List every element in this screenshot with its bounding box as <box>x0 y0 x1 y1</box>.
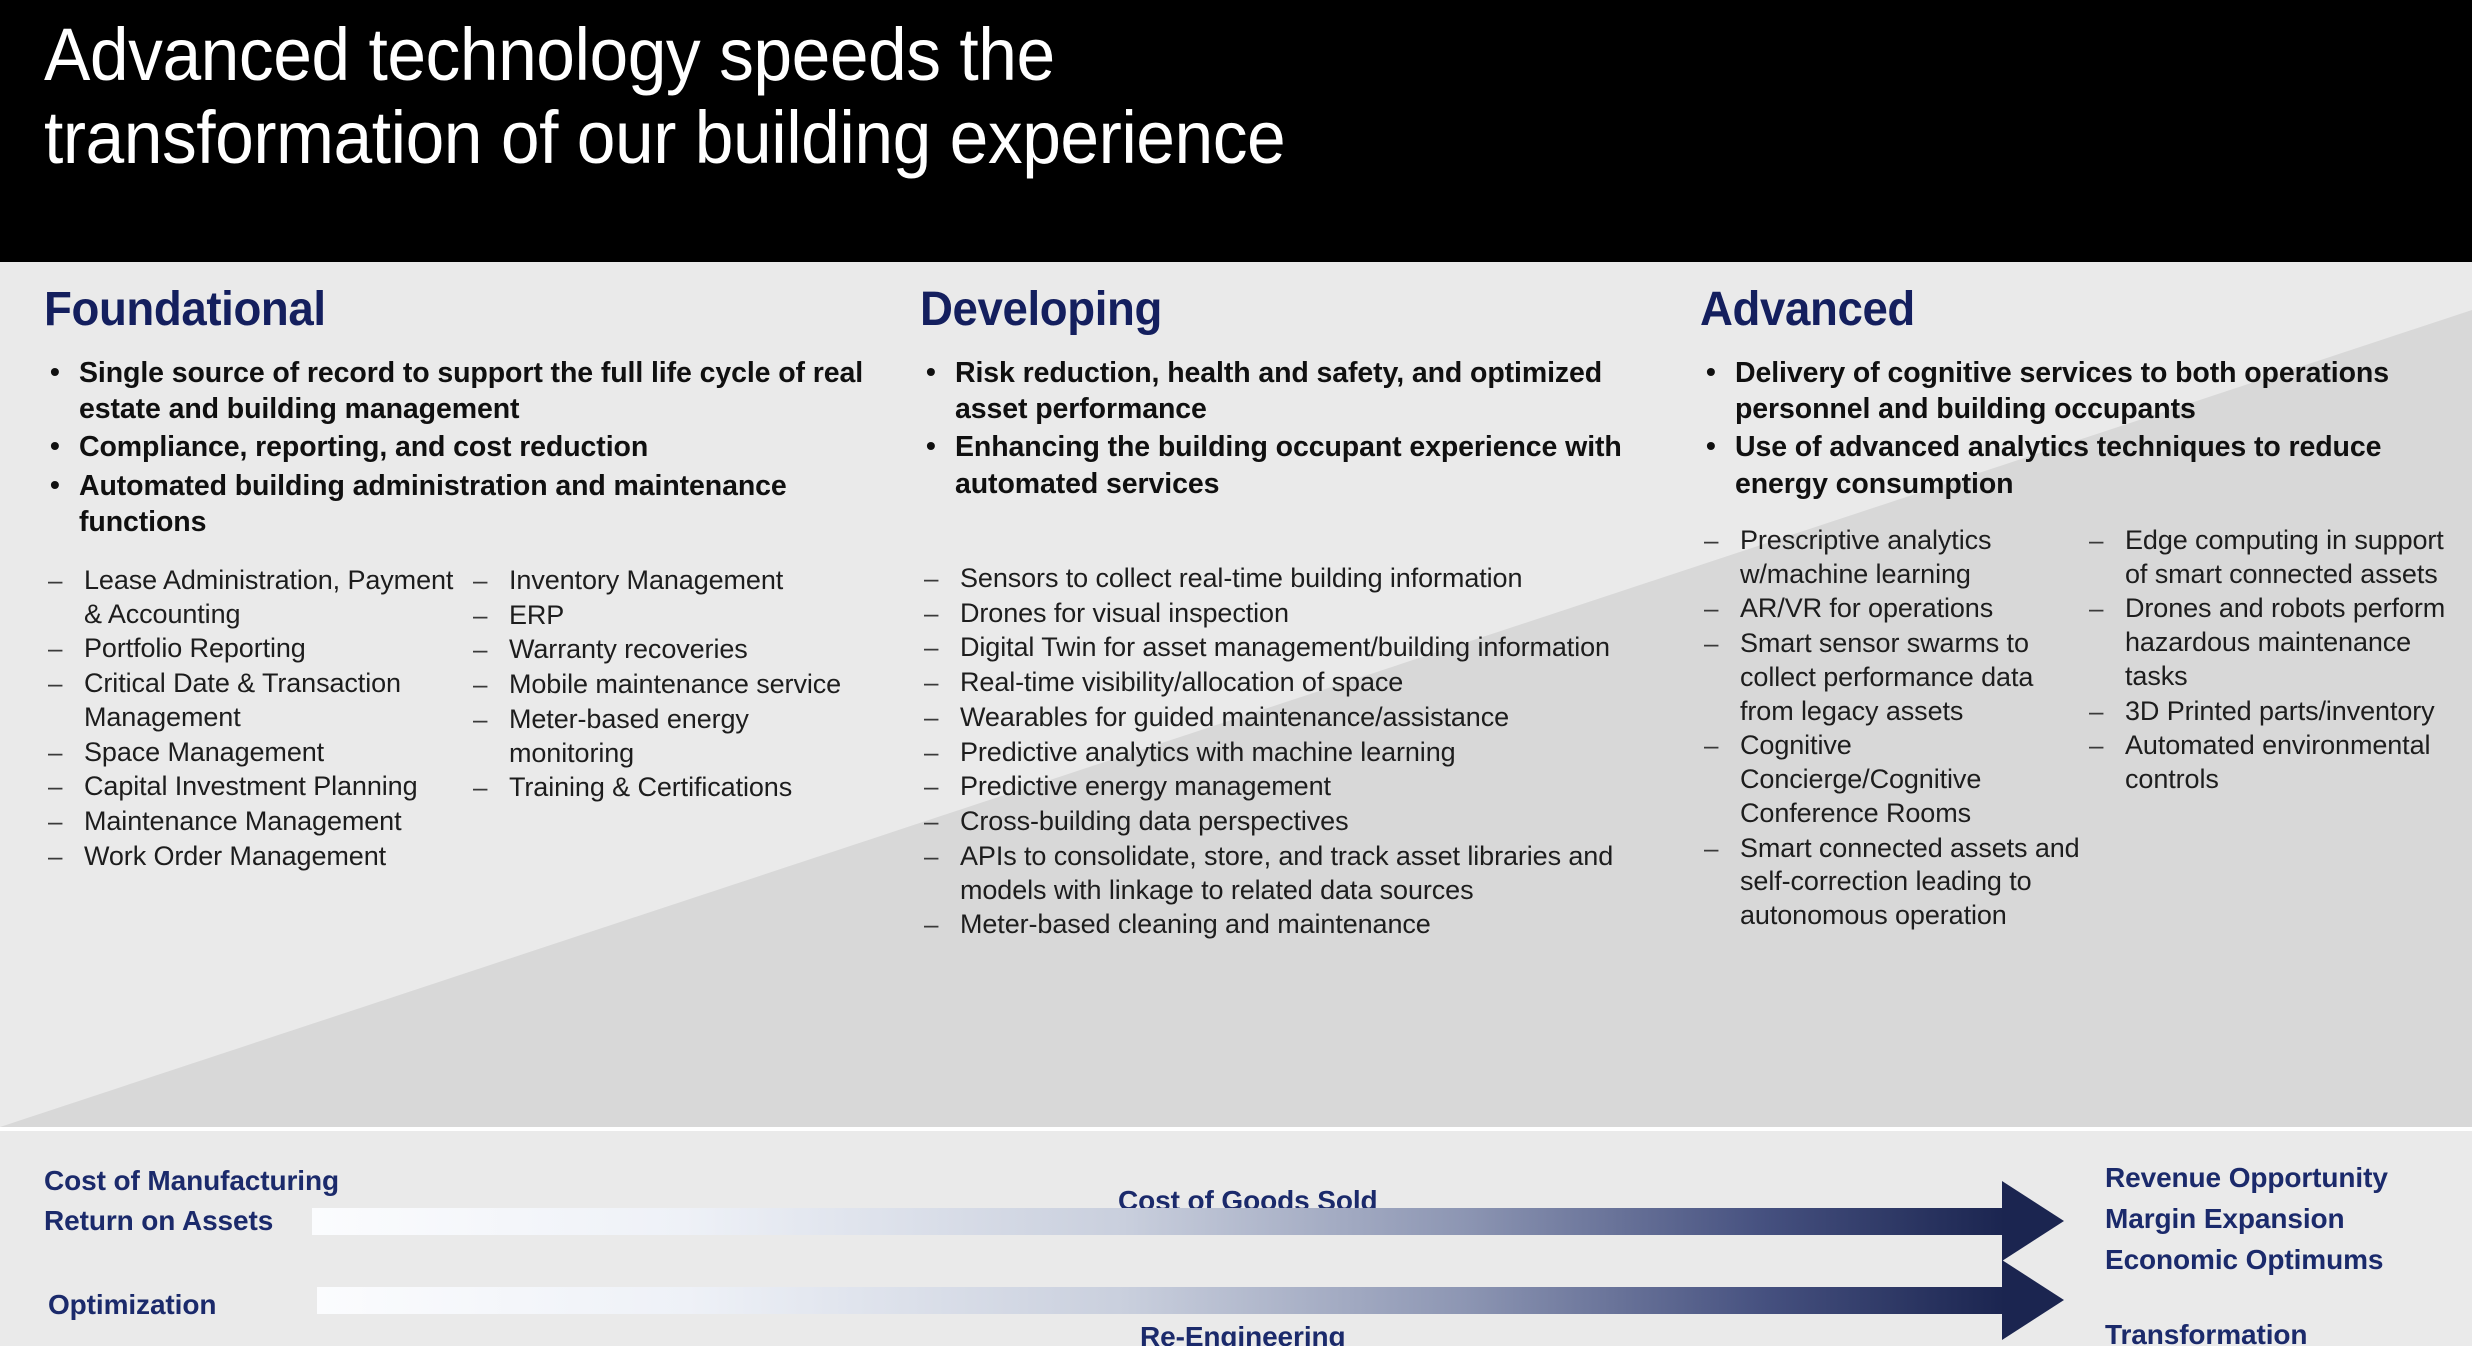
sub-bullet-item: Drones for visual inspection <box>920 597 1660 631</box>
sub-bullet-item: ERP <box>469 599 869 633</box>
sub-bullet-item: Prescriptive analytics w/machine learnin… <box>1700 524 2085 592</box>
column-advanced: Advanced Delivery of cognitive services … <box>1700 262 2460 934</box>
main-bullet-item: Use of advanced analytics techniques to … <box>1700 429 2460 501</box>
label-transformation: Transformation <box>2105 1319 2307 1346</box>
label-re-engineering: Re-Engineering <box>1140 1321 1346 1346</box>
arrow-shaft-top <box>312 1208 2004 1235</box>
main-bullet-list-foundational: Single source of record to support the f… <box>44 355 894 540</box>
sub-bullet-list-b: Edge computing in support of smart conne… <box>2085 524 2455 934</box>
sub-bullet-item: Mobile maintenance service <box>469 668 869 702</box>
label-cost-of-manufacturing: Cost of Manufacturing <box>44 1165 339 1197</box>
sub-bullet-item: Drones and robots perform hazardous main… <box>2085 592 2455 693</box>
column-heading-developing: Developing <box>920 282 1623 337</box>
main-bullet-list-advanced: Delivery of cognitive services to both o… <box>1700 355 2460 502</box>
sub-bullet-list-a: Prescriptive analytics w/machine learnin… <box>1700 524 2085 934</box>
arrow-head-top <box>2002 1181 2064 1261</box>
sub-bullet-columns-developing: Sensors to collect real-time building in… <box>920 562 1660 943</box>
sub-bullet-item: Real-time visibility/allocation of space <box>920 666 1660 700</box>
sub-bullet-item: Critical Date & Transaction Management <box>44 667 469 735</box>
main-bullet-list-developing: Risk reduction, health and safety, and o… <box>920 355 1660 502</box>
main-bullet-item: Delivery of cognitive services to both o… <box>1700 355 2460 427</box>
main-bullet-item: Compliance, reporting, and cost reductio… <box>44 429 894 465</box>
main-bullet-item: Automated building administration and ma… <box>44 468 894 540</box>
sub-bullet-item: Predictive analytics with machine learni… <box>920 736 1660 770</box>
sub-bullet-item: Smart connected assets and self-correcti… <box>1700 832 2085 933</box>
column-heading-foundational: Foundational <box>44 282 852 337</box>
sub-bullet-item: Wearables for guided maintenance/assista… <box>920 701 1660 735</box>
sub-bullet-item: AR/VR for operations <box>1700 592 2085 626</box>
sub-bullet-item: Maintenance Management <box>44 805 469 839</box>
sub-bullet-item: Meter-based cleaning and maintenance <box>920 908 1660 942</box>
value-arrows-band: Cost of Manufacturing Return on Assets O… <box>0 1131 2472 1346</box>
sub-bullet-columns-advanced: Prescriptive analytics w/machine learnin… <box>1700 524 2460 934</box>
label-optimization: Optimization <box>48 1289 216 1321</box>
sub-bullet-item: Capital Investment Planning <box>44 770 469 804</box>
sub-bullet-item: Cross-building data perspectives <box>920 805 1660 839</box>
arrow-head-bottom <box>2002 1260 2064 1340</box>
main-bullet-item: Single source of record to support the f… <box>44 355 894 427</box>
sub-bullet-list-a: Lease Administration, Payment & Accounti… <box>44 564 469 875</box>
label-economic-optimums: Economic Optimums <box>2105 1244 2383 1276</box>
sub-bullet-columns-foundational: Lease Administration, Payment & Accounti… <box>44 564 894 875</box>
sub-bullet-item: Smart sensor swarms to collect performan… <box>1700 627 2085 728</box>
page-title: Advanced technology speeds the transform… <box>44 14 1642 180</box>
sub-bullet-item: APIs to consolidate, store, and track as… <box>920 840 1660 908</box>
sub-bullet-item: Sensors to collect real-time building in… <box>920 562 1660 596</box>
sub-bullet-item: Space Management <box>44 736 469 770</box>
sub-bullet-item: Automated environmental controls <box>2085 729 2455 797</box>
sub-bullet-item: Meter-based energy monitoring <box>469 703 869 771</box>
sub-bullet-item: Lease Administration, Payment & Accounti… <box>44 564 469 632</box>
title-banner: Advanced technology speeds the transform… <box>0 0 2472 262</box>
sub-bullet-item: Portfolio Reporting <box>44 632 469 666</box>
sub-bullet-item: Warranty recoveries <box>469 633 869 667</box>
label-return-on-assets: Return on Assets <box>44 1205 273 1237</box>
main-bullet-item: Risk reduction, health and safety, and o… <box>920 355 1660 427</box>
label-revenue-opportunity: Revenue Opportunity <box>2105 1162 2388 1194</box>
sub-bullet-item: Training & Certifications <box>469 771 869 805</box>
column-foundational: Foundational Single source of record to … <box>44 262 894 875</box>
slide: Advanced technology speeds the transform… <box>0 0 2472 1346</box>
sub-bullet-item: Digital Twin for asset management/buildi… <box>920 631 1660 665</box>
arrow-shaft-bottom <box>317 1287 2004 1314</box>
sub-bullet-item: Cognitive Concierge/Cognitive Conference… <box>1700 729 2085 830</box>
label-margin-expansion: Margin Expansion <box>2105 1203 2345 1235</box>
sub-bullet-item: 3D Printed parts/inventory <box>2085 695 2455 729</box>
column-developing: Developing Risk reduction, health and sa… <box>920 262 1660 943</box>
sub-bullet-list-a: Sensors to collect real-time building in… <box>920 562 1660 943</box>
column-heading-advanced: Advanced <box>1700 282 2422 337</box>
content-area: Foundational Single source of record to … <box>0 262 2472 1127</box>
sub-bullet-item: Inventory Management <box>469 564 869 598</box>
sub-bullet-item: Edge computing in support of smart conne… <box>2085 524 2455 592</box>
sub-bullet-item: Predictive energy management <box>920 770 1660 804</box>
sub-bullet-item: Work Order Management <box>44 840 469 874</box>
main-bullet-item: Enhancing the building occupant experien… <box>920 429 1660 501</box>
sub-bullet-list-b: Inventory Management ERP Warranty recove… <box>469 564 869 875</box>
